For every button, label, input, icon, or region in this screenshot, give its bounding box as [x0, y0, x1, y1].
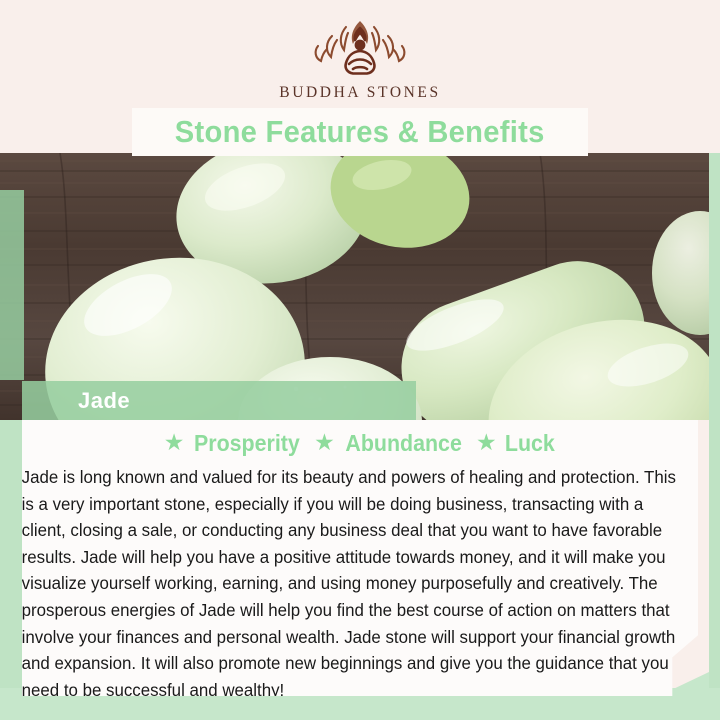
lotus-meditation-figure-icon [301, 14, 419, 78]
page-title: Stone Features & Benefits [175, 114, 545, 150]
benefit-label: Abundance [345, 430, 461, 457]
star-icon: ★ [314, 431, 335, 454]
frame-left-border [0, 408, 22, 720]
star-icon: ★ [164, 431, 185, 454]
content-panel: ★ Prosperity ★ Abundance ★ Luck Jade is … [22, 420, 698, 696]
content-inner: ★ Prosperity ★ Abundance ★ Luck Jade is … [22, 420, 698, 703]
benefit-prosperity: ★ Prosperity [164, 430, 304, 457]
frame-bottom-corner-cut [667, 672, 709, 692]
photo-artwork [0, 153, 709, 420]
stone-info-poster: BUDDHA STONES [0, 0, 720, 720]
title-banner: Stone Features & Benefits [132, 108, 588, 156]
photo-left-green-accent [0, 190, 24, 380]
benefit-luck: ★ Luck [476, 430, 556, 457]
benefit-label: Prosperity [194, 430, 300, 457]
stone-name-band: Jade [22, 381, 416, 420]
stone-name-label: Jade [78, 388, 130, 414]
brand-name: BUDDHA STONES [279, 84, 440, 102]
star-icon: ★ [476, 431, 497, 454]
brand-logo: BUDDHA STONES [0, 14, 720, 102]
benefit-label: Luck [504, 430, 554, 457]
benefit-abundance: ★ Abundance [314, 430, 466, 457]
benefits-row: ★ Prosperity ★ Abundance ★ Luck [22, 426, 698, 460]
jade-stones-photo [0, 153, 709, 420]
stone-description: Jade is long known and valued for its be… [10, 464, 697, 703]
